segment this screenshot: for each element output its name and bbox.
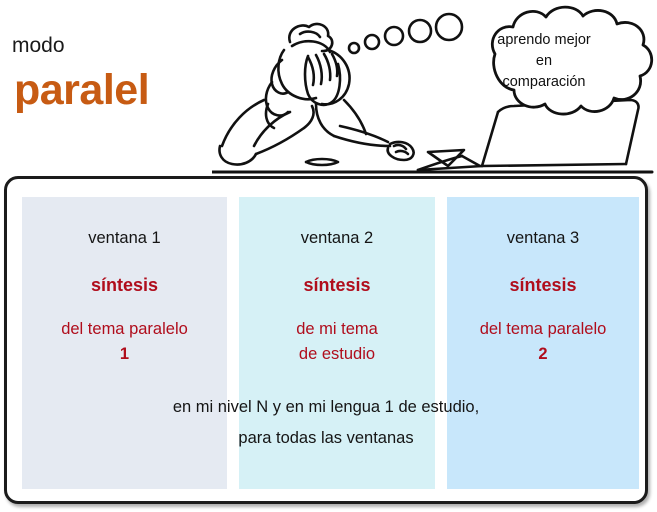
window-3-title: ventana 3	[447, 229, 639, 248]
window-3-body-line-1: del tema paralelo	[447, 317, 639, 342]
window-column-2[interactable]: ventana 2 síntesis de mi tema de estudio	[239, 197, 435, 489]
window-column-3[interactable]: ventana 3 síntesis del tema paralelo 2	[447, 197, 639, 489]
window-1-heading: síntesis	[22, 275, 227, 296]
window-2-body-line-1: de mi tema	[239, 317, 435, 342]
window-column-1[interactable]: ventana 1 síntesis del tema paralelo 1	[22, 197, 227, 489]
mode-label: modo	[12, 34, 65, 58]
window-3-body: del tema paralelo 2	[447, 317, 639, 367]
windows-panel: ventana 1 síntesis del tema paralelo 1 v…	[4, 176, 648, 504]
window-2-heading: síntesis	[239, 275, 435, 296]
window-2-body: de mi tema de estudio	[239, 317, 435, 367]
window-2-title: ventana 2	[239, 229, 435, 248]
window-1-title: ventana 1	[22, 229, 227, 248]
window-1-body-line-1: del tema paralelo	[22, 317, 227, 342]
window-1-body-line-2: 1	[22, 342, 227, 367]
mode-name: paralel	[14, 66, 149, 115]
window-2-body-line-2: de estudio	[239, 342, 435, 367]
window-3-heading: síntesis	[447, 275, 639, 296]
header: modo paralel	[0, 0, 657, 175]
window-3-body-line-2: 2	[447, 342, 639, 367]
person-studying-at-laptop-icon	[212, 0, 657, 178]
window-1-body: del tema paralelo 1	[22, 317, 227, 367]
